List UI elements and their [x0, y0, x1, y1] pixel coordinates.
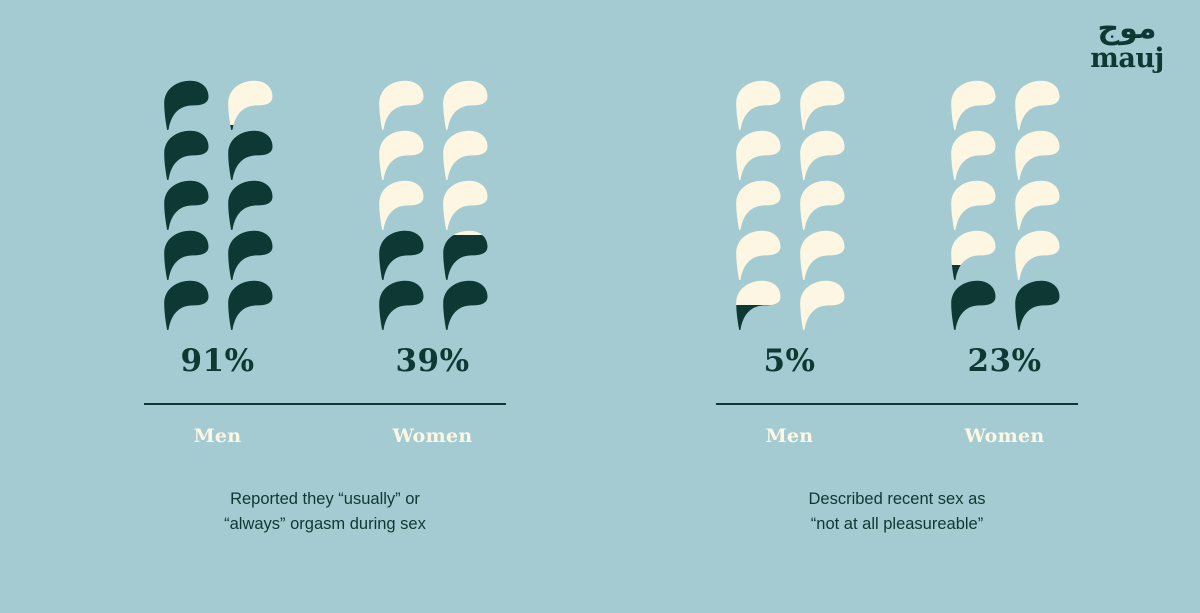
- group-labels: Men Women: [682, 405, 1112, 447]
- droplet-icon: [373, 130, 429, 180]
- droplet-icon: [158, 130, 214, 180]
- droplet-icon: [730, 130, 786, 180]
- pictogram-groups: 91% 39%: [110, 80, 540, 377]
- droplet-icon: [222, 280, 278, 330]
- divider-wrap: [110, 377, 540, 405]
- droplet-icon: [945, 180, 1001, 230]
- droplet-icon: [1009, 180, 1065, 230]
- panel-caption: Reported they “usually” or “always” orga…: [110, 487, 540, 537]
- droplet-icon: [945, 130, 1001, 180]
- group-label-men: Men: [682, 405, 897, 447]
- group-label-women: Women: [325, 405, 540, 447]
- droplet-icon: [158, 80, 214, 130]
- logo-arabic-text: موج: [1072, 12, 1182, 46]
- percent-value: 5%: [763, 346, 815, 377]
- droplet-icon: [437, 130, 493, 180]
- droplet-icon: [222, 230, 278, 280]
- droplet-icon: [730, 80, 786, 130]
- droplet-icon: [373, 280, 429, 330]
- group-label-men: Men: [110, 405, 325, 447]
- droplet-icon: [222, 180, 278, 230]
- percent-value: 23%: [967, 346, 1041, 377]
- droplet-icon: [437, 80, 493, 130]
- infographic-canvas: موج mauj 91% 39% Men Women Reported they…: [0, 0, 1200, 613]
- divider-wrap: [682, 377, 1112, 405]
- panel-caption: Described recent sex as “not at all plea…: [682, 487, 1112, 537]
- droplet-icon: [373, 230, 429, 280]
- logo-latin-text: mauj: [1072, 45, 1182, 72]
- caption-line: “not at all pleasureable”: [682, 512, 1112, 537]
- panel-orgasm: 91% 39% Men Women Reported they “usually…: [110, 80, 540, 537]
- caption-line: “always” orgasm during sex: [110, 512, 540, 537]
- droplet-icon: [373, 80, 429, 130]
- droplet-icon: [158, 230, 214, 280]
- droplet-icon: [1009, 230, 1065, 280]
- droplet-icon: [373, 180, 429, 230]
- droplet-icon: [730, 280, 786, 330]
- icon-grid: [730, 80, 850, 330]
- icon-grid: [373, 80, 493, 330]
- percent-value: 39%: [395, 346, 469, 377]
- group-women: 23%: [897, 80, 1112, 377]
- group-men: 5%: [682, 80, 897, 377]
- caption-line: Described recent sex as: [682, 487, 1112, 512]
- droplet-icon: [945, 230, 1001, 280]
- droplet-icon: [1009, 80, 1065, 130]
- percent-value: 91%: [180, 346, 254, 377]
- droplet-icon: [794, 280, 850, 330]
- droplet-icon: [158, 180, 214, 230]
- group-women: 39%: [325, 80, 540, 377]
- group-label-women: Women: [897, 405, 1112, 447]
- droplet-icon: [794, 80, 850, 130]
- droplet-icon: [794, 130, 850, 180]
- droplet-icon: [158, 280, 214, 330]
- droplet-icon: [945, 280, 1001, 330]
- droplet-icon: [437, 180, 493, 230]
- mauj-logo: موج mauj: [1072, 12, 1182, 72]
- droplet-icon: [794, 230, 850, 280]
- icon-grid: [158, 80, 278, 330]
- pictogram-groups: 5% 23%: [682, 80, 1112, 377]
- group-labels: Men Women: [110, 405, 540, 447]
- droplet-icon: [1009, 280, 1065, 330]
- droplet-icon: [437, 280, 493, 330]
- droplet-icon: [730, 180, 786, 230]
- droplet-icon: [794, 180, 850, 230]
- droplet-icon: [945, 80, 1001, 130]
- droplet-icon: [222, 80, 278, 130]
- droplet-icon: [222, 130, 278, 180]
- droplet-icon: [437, 230, 493, 280]
- droplet-icon: [1009, 130, 1065, 180]
- caption-line: Reported they “usually” or: [110, 487, 540, 512]
- icon-grid: [945, 80, 1065, 330]
- panel-pleasure: 5% 23% Men Women Described recent sex as…: [682, 80, 1112, 537]
- group-men: 91%: [110, 80, 325, 377]
- droplet-icon: [730, 230, 786, 280]
